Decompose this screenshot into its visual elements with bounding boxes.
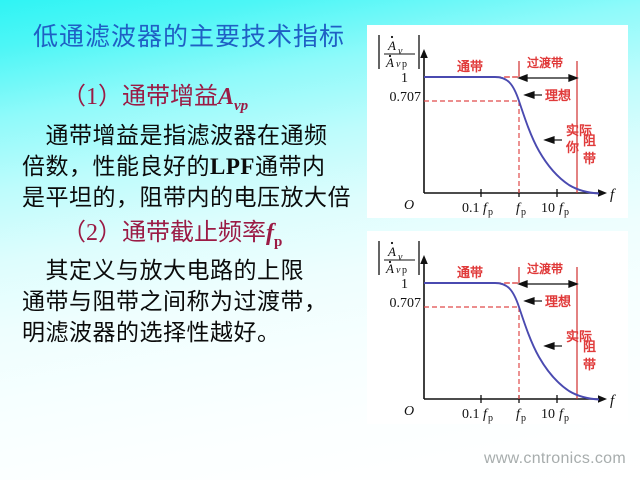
y-tick-labels: 1 0.707 [390,71,422,105]
ideal-label: 理想 [545,294,571,309]
svg-text:1: 1 [401,71,408,86]
svg-text:O: O [404,198,414,213]
transition-band-arrow [519,75,577,81]
svg-text:0.1: 0.1 [462,407,480,422]
svg-text:f: f [610,187,616,203]
svg-text:v: v [396,265,401,276]
stopband-label: 阻 [583,339,596,354]
chart-panel-bottom: A v A v p O f 1 [367,231,628,424]
stopband-label: 阻 [583,133,596,148]
svg-text:v: v [396,59,401,70]
heading-passband-gain: （1）通带增益Avp [62,76,248,115]
svg-text:v: v [398,252,403,263]
svg-text:0.707: 0.707 [390,296,422,311]
heading-2-text: （2）通带截止频率 [62,220,266,246]
svg-text:10: 10 [541,201,555,216]
heading-1-text: （1）通带增益 [62,84,218,110]
chart-annotations: 通带 过渡带 理想 实际 阻 带 [457,261,596,372]
heading-2-symbol: f [266,220,274,246]
reference-dashed-lines [424,283,519,399]
svg-text:p: p [521,413,526,424]
y-axis-label: A v A v p [379,241,419,276]
heading-cutoff-frequency: （2）通带截止频率fp [62,212,282,251]
watermark: www.cntronics.com [484,450,626,468]
paragraph-1-line-2-text: 倍数，性能良好的LPF通带内 [22,154,325,179]
svg-text:v: v [398,46,403,57]
paragraph-2-line-1: 其定义与放大电路的上限 [22,251,304,285]
slide-canvas: 低通滤波器的主要技术指标 （1）通带增益Avp 通带增益是指滤波器在通频 倍数，… [0,0,640,480]
svg-text:你: 你 [565,140,579,155]
paragraph-1-line-2: 倍数，性能良好的LPF通带内 [22,147,325,181]
svg-text:p: p [488,413,493,424]
transition-band-label: 过渡带 [527,261,563,276]
svg-text:p: p [402,59,407,70]
svg-text:p: p [488,207,493,218]
svg-text:p: p [402,265,407,276]
svg-text:0.707: 0.707 [390,90,422,105]
transition-band-arrow [519,281,577,287]
x-tick-labels: 0.1 f p f p 10 f p [462,407,569,424]
ideal-label: 理想 [545,88,571,103]
stopband-label-2: 带 [583,151,596,166]
svg-text:p: p [564,413,569,424]
reference-dashed-lines [424,77,519,193]
y-axis-label: A v A v p [379,35,419,70]
paragraph-2-line-3: 明滤波器的选择性越好。 [22,313,281,347]
svg-text:A: A [387,38,396,53]
svg-text:A: A [385,55,394,70]
passband-label: 通带 [457,265,483,280]
lpf-response-chart-top: A v A v p O f [367,25,628,218]
lpf-response-chart-bottom: A v A v p O f 1 [367,231,628,424]
stopband-label-2: 带 [583,357,596,372]
x-tick-labels: 0.1 f p f p 10 f p [462,201,569,218]
paragraph-1-line-3: 是平坦的，阻带内的电压放大倍 [22,178,351,212]
heading-1-symbol: A [218,84,234,110]
transition-band-label: 过渡带 [527,55,563,70]
svg-text:1: 1 [401,277,408,292]
y-tick-labels: 1 0.707 [390,277,422,311]
svg-text:0.1: 0.1 [462,201,480,216]
page-title: 低通滤波器的主要技术指标 [33,17,345,53]
paragraph-2-line-2: 通带与阻带之间称为过渡带， [22,282,328,316]
svg-text:10: 10 [541,407,555,422]
svg-text:f: f [610,393,616,409]
svg-text:p: p [521,207,526,218]
heading-1-subscript: vp [234,98,248,114]
svg-text:A: A [385,261,394,276]
paragraph-1-line-1: 通带增益是指滤波器在通频 [22,116,328,150]
chart-panel-top: A v A v p O f [367,25,628,218]
svg-text:p: p [564,207,569,218]
svg-text:O: O [404,404,414,419]
passband-label: 通带 [457,59,483,74]
svg-text:A: A [387,244,396,259]
heading-2-subscript: p [274,234,282,250]
